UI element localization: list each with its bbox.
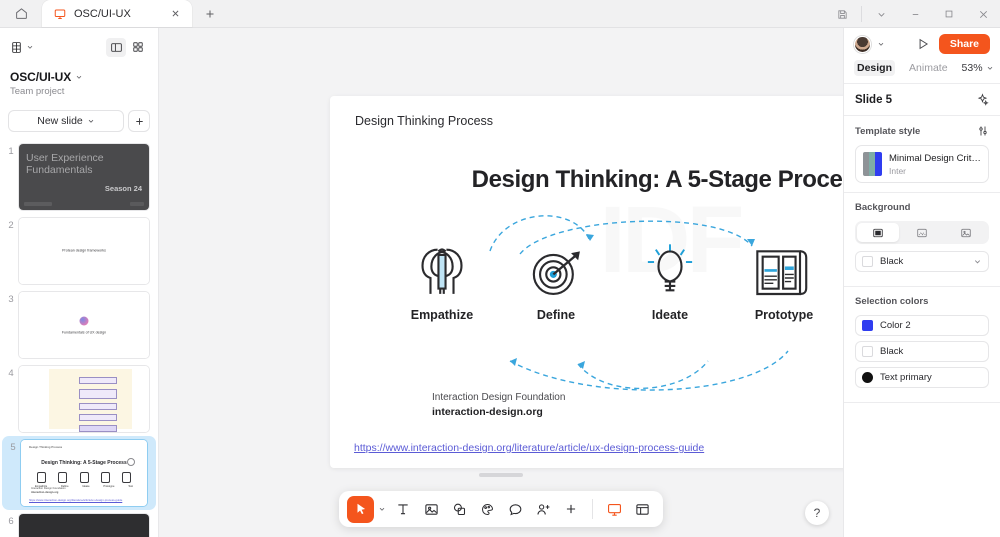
graphic-heading: Design Thinking: A 5-Stage Process [390, 166, 843, 194]
background-color-select[interactable]: Black [855, 251, 989, 272]
template-thumbnail [863, 152, 882, 176]
footer-line1: Interaction Design Foundation [432, 391, 565, 405]
slide-preview[interactable]: User Experience Fundamentals Season 24 [18, 143, 150, 211]
lightbulb-icon [639, 231, 701, 299]
slide-thumbnail-1[interactable]: 1 User Experience Fundamentals Season 24 [0, 140, 158, 214]
thumb-logo-icon [80, 317, 89, 326]
template-font: Inter [889, 166, 981, 176]
thumb-title: User Experience Fundamentals [26, 152, 149, 176]
project-subtitle: Team project [10, 86, 148, 97]
chevron-down-icon [75, 73, 83, 81]
slide-heading-text[interactable]: Design Thinking Process [355, 114, 493, 128]
slide-label: Slide 5 [855, 94, 892, 106]
wireframe-icon [752, 231, 816, 299]
new-tab-button[interactable] [196, 1, 224, 27]
inspector-panel: Share Design Animate 53% Slide 5 [843, 28, 1000, 537]
panel-view-icon[interactable] [106, 38, 126, 57]
editor-toolbar[interactable] [339, 491, 663, 527]
template-name: Minimal Design Critique ... [889, 153, 981, 164]
background-mode-segmented[interactable] [855, 221, 989, 244]
slide-preview[interactable] [18, 513, 150, 537]
text-T-icon[interactable] [390, 496, 416, 522]
new-slide-button[interactable]: New slide [8, 110, 124, 132]
layout-icon[interactable] [629, 496, 655, 522]
share-button[interactable]: Share [939, 34, 990, 54]
background-section: Background Black [844, 193, 1000, 287]
target-arrow-icon [525, 231, 587, 299]
zoom-control[interactable]: 53% [962, 62, 994, 74]
thumb-diagram [49, 369, 132, 429]
slides-sidebar: OSC/UI-UX Team project New slide [0, 28, 159, 537]
thumb-badge-icon [127, 458, 135, 466]
color-label: Text primary [880, 372, 932, 383]
plus-icon[interactable] [558, 496, 584, 522]
thumb-stage-icons [37, 472, 131, 483]
selection-colors-section: Selection colors Color 2 Black Text prim… [844, 287, 1000, 403]
background-swatch [862, 256, 873, 267]
grid-view-icon[interactable] [128, 38, 148, 57]
slide-preview[interactable] [18, 365, 150, 433]
help-button[interactable]: ? [805, 501, 829, 525]
color-swatch [862, 320, 873, 331]
slide-source-link[interactable]: https://www.interaction-design.org/liter… [354, 442, 704, 454]
thumb-decor-right [130, 202, 144, 206]
pattern-fill-icon[interactable] [901, 223, 943, 242]
solid-fill-icon[interactable] [857, 223, 899, 242]
shapes-icon[interactable] [446, 496, 472, 522]
color-swatch [862, 346, 873, 357]
thumb-decor-left [24, 202, 52, 206]
active-slide[interactable]: Design Thinking Process IDF Design Think… [330, 96, 843, 468]
thumb-title: Fundamentals of UX design [19, 330, 149, 335]
selection-color-row[interactable]: Text primary [855, 367, 989, 388]
background-color-name: Black [880, 256, 903, 267]
two-heads-icon [411, 231, 473, 299]
app-logo-menu[interactable] [10, 41, 34, 54]
divider [592, 499, 593, 519]
stage-label: Empathize [411, 308, 474, 322]
chevron-down-icon[interactable] [877, 40, 885, 48]
slide-number: 5 [6, 439, 20, 453]
browser-tab-title: OSC/UI-UX [74, 8, 161, 20]
color-label: Black [880, 346, 903, 357]
slide-number: 4 [4, 365, 18, 379]
design-thinking-graphic[interactable]: IDF Design Thinking: A 5-Stage Process [390, 146, 843, 426]
footer-line2: interaction-design.org [432, 406, 543, 418]
stage-list: Empathize Define [390, 231, 843, 322]
browser-tab-bar: OSC/UI-UX [0, 0, 1000, 28]
tab-design[interactable]: Design [854, 60, 895, 76]
thumb-footer-line2: interaction-design.org [31, 491, 66, 494]
speech-bubble-icon[interactable] [502, 496, 528, 522]
new-slide-label: New slide [37, 115, 83, 127]
selection-colors-label: Selection colors [855, 296, 928, 307]
slide-number: 6 [4, 513, 18, 527]
window-controls [825, 0, 1000, 28]
slide-preview[interactable]: Protean design frameworks [18, 217, 150, 285]
window-close-icon[interactable] [966, 0, 1000, 28]
slide-number: 3 [4, 291, 18, 305]
selection-color-row[interactable]: Color 2 [855, 315, 989, 336]
color-swatch [862, 372, 873, 383]
stage-define[interactable]: Define [512, 231, 600, 322]
add-person-icon[interactable] [530, 496, 556, 522]
slide-preview[interactable]: Design Thinking Process Design Thinking:… [20, 439, 148, 507]
thumb-subtitle: Season 24 [105, 184, 142, 193]
stage-label: Ideate [652, 308, 688, 322]
chevron-down-icon[interactable] [864, 0, 898, 28]
slide-thumbnail-list[interactable]: 1 User Experience Fundamentals Season 24… [0, 132, 158, 537]
slide-thumbnail-5[interactable]: 5 Design Thinking Process Design Thinkin… [2, 436, 156, 510]
play-icon[interactable] [913, 34, 933, 54]
home-icon[interactable] [0, 0, 42, 27]
color-label: Color 2 [880, 320, 911, 331]
sliders-icon[interactable] [977, 125, 989, 137]
project-menu[interactable]: OSC/UI-UX [10, 70, 148, 84]
slide-preview[interactable]: Fundamentals of UX design [18, 291, 150, 359]
avatar[interactable] [854, 36, 871, 53]
slide-canvas-area[interactable]: Design Thinking Process IDF Design Think… [159, 28, 843, 537]
slide-section: Slide 5 [844, 84, 1000, 116]
slide-thumbnail-3[interactable]: 3 Fundamentals of UX design [0, 288, 158, 362]
stage-label: Define [537, 308, 575, 322]
save-icon[interactable] [825, 0, 859, 28]
selection-color-row[interactable]: Black [855, 341, 989, 362]
thumb-stage-label: Ideate [82, 485, 89, 488]
slide-thumbnail-6[interactable]: 6 [0, 510, 158, 537]
canvas-resize-handle[interactable] [479, 473, 523, 477]
thumb-footer: Interaction Design Foundation interactio… [31, 487, 66, 494]
stage-empathize[interactable]: Empathize [398, 231, 486, 322]
maximize-icon[interactable] [932, 0, 966, 28]
thumb-stage-label: Test [128, 485, 133, 488]
background-label: Background [855, 202, 910, 213]
browser-tab[interactable]: OSC/UI-UX [42, 0, 192, 27]
add-slide-button[interactable] [128, 110, 150, 132]
cursor-icon[interactable] [347, 496, 374, 523]
image-fill-icon[interactable] [945, 223, 987, 242]
project-name: OSC/UI-UX [10, 70, 71, 84]
stage-ideate[interactable]: Ideate [626, 231, 714, 322]
chevron-down-icon [973, 257, 982, 266]
presentation-icon[interactable] [601, 496, 627, 522]
presentation-icon [53, 7, 67, 21]
thumb-title: Protean design frameworks [19, 249, 149, 254]
slide-number: 1 [4, 143, 18, 157]
chevron-down-icon[interactable] [376, 505, 388, 513]
slide-thumbnail-4[interactable]: 4 [0, 362, 158, 436]
tab-animate[interactable]: Animate [906, 60, 951, 76]
zoom-level: 53% [962, 62, 983, 74]
template-style-label: Template style [855, 126, 920, 137]
image-icon[interactable] [418, 496, 444, 522]
minimize-icon[interactable] [898, 0, 932, 28]
thumb-link: https://www.interaction-design.org/liter… [29, 498, 122, 502]
sparkle-icon[interactable] [976, 93, 989, 106]
chevron-down-icon [87, 117, 95, 125]
stage-prototype[interactable]: Prototype [740, 231, 828, 322]
scribble-icon[interactable] [474, 496, 500, 522]
graphic-footer: Interaction Design Foundation interactio… [432, 391, 565, 420]
slide-number: 2 [4, 217, 18, 231]
slide-thumbnail-2[interactable]: 2 Protean design frameworks [0, 214, 158, 288]
thumb-stage-label: Prototype [103, 485, 114, 488]
template-style-section: Template style Minimal Design Critique .… [844, 116, 1000, 193]
template-style-card[interactable]: Minimal Design Critique ... Inter [855, 145, 989, 183]
divider [861, 6, 862, 22]
chevron-down-icon [986, 64, 994, 72]
chevron-down-icon [26, 43, 34, 51]
close-icon[interactable] [168, 6, 183, 21]
thumb-slide-title: Design Thinking Process [29, 445, 62, 449]
stage-label: Prototype [755, 308, 813, 322]
pitch-logo-icon [10, 41, 23, 54]
